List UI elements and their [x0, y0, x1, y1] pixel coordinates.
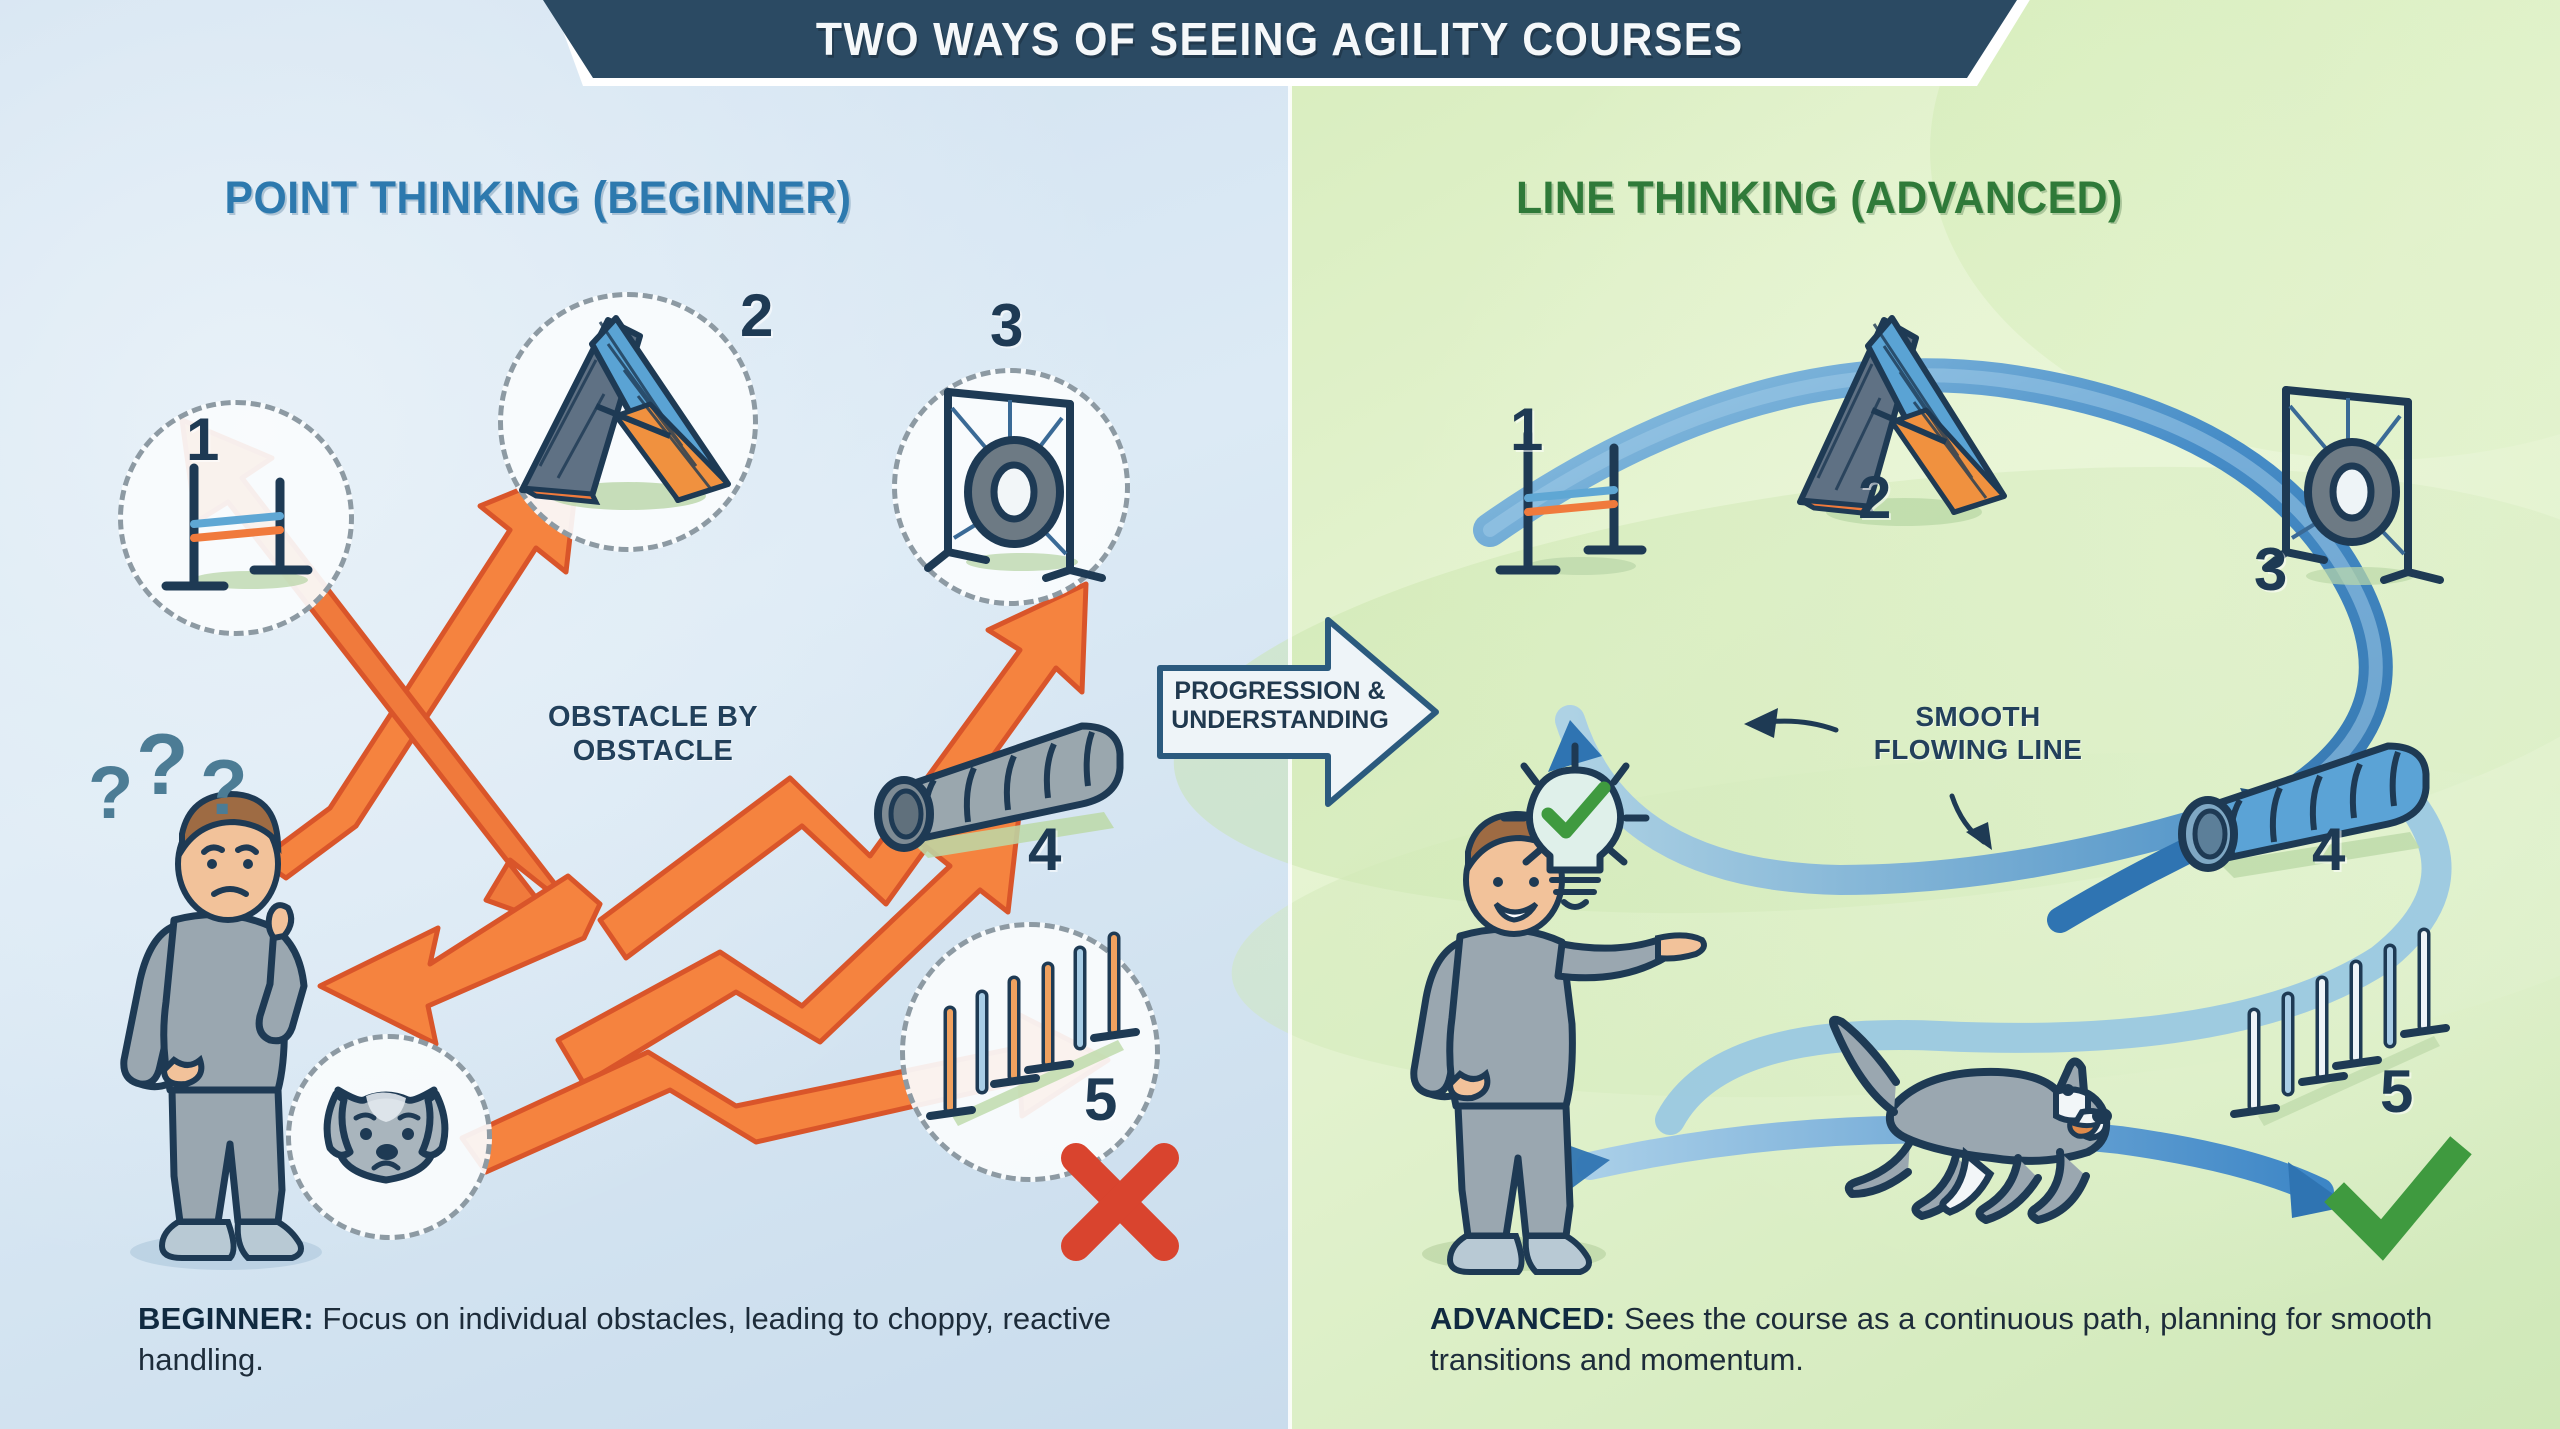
- right-obstacle-3-number: 3: [2254, 540, 2287, 600]
- obstacle-label-line-1: OBSTACLE BY: [508, 700, 798, 734]
- sad-dog-icon: [310, 1056, 462, 1208]
- running-dog-icon: [1806, 996, 2206, 1246]
- beginner-caption-label: BEGINNER:: [138, 1301, 314, 1336]
- advanced-caption: ADVANCED: Sees the course as a continuou…: [1430, 1298, 2490, 1380]
- infographic-canvas: TWO WAYS OF SEEING AGILITY COURSES POINT…: [0, 0, 2560, 1429]
- right-obstacle-5-number: 5: [2380, 1062, 2413, 1122]
- obstacle-by-obstacle-label: OBSTACLE BY OBSTACLE: [508, 700, 798, 768]
- right-obstacle-2-number: 2: [1858, 468, 1891, 528]
- obstacle-4-number: 4: [1028, 820, 1061, 880]
- obstacle-label-line-2: OBSTACLE: [508, 734, 798, 768]
- weave-poles-icon: [2212, 896, 2472, 1156]
- progression-label-line-1: PROGRESSION &: [1165, 677, 1395, 706]
- progression-arrow-label: PROGRESSION & UNDERSTANDING: [1165, 677, 1395, 735]
- obstacle-2-number: 2: [740, 286, 773, 346]
- jump-hurdle-icon: [140, 420, 330, 610]
- right-obstacle-4-number: 4: [2312, 820, 2345, 880]
- question-mark-icon: ?: [200, 743, 248, 831]
- tunnel-icon: [852, 692, 1142, 872]
- question-mark-icon: ?: [136, 717, 189, 813]
- tunnel-icon: [2152, 716, 2452, 896]
- jump-hurdle-icon: [1478, 394, 1668, 594]
- flow-label-pointers: [1700, 680, 2120, 880]
- cross-mark-icon: [1058, 1140, 1182, 1264]
- obstacle-5-number: 5: [1084, 1070, 1117, 1130]
- obstacle-1-number: 1: [186, 410, 219, 470]
- advanced-caption-label: ADVANCED:: [1430, 1301, 1616, 1336]
- a-frame-icon: [500, 300, 750, 540]
- a-frame-icon: [1770, 306, 2030, 556]
- left-panel-heading: POINT THINKING (BEGINNER): [225, 172, 852, 224]
- tire-jump-icon: [910, 356, 1120, 596]
- right-obstacle-1-number: 1: [1510, 400, 1543, 460]
- progression-label-line-2: UNDERSTANDING: [1165, 706, 1395, 735]
- beginner-caption: BEGINNER: Focus on individual obstacles,…: [138, 1298, 1198, 1380]
- question-mark-icon: ?: [88, 751, 133, 834]
- weave-poles-icon: [910, 920, 1160, 1170]
- title-banner: TWO WAYS OF SEEING AGILITY COURSES: [543, 0, 2017, 78]
- right-panel-heading: LINE THINKING (ADVANCED): [1516, 172, 2123, 224]
- obstacle-3-number: 3: [990, 296, 1023, 356]
- page-title: TWO WAYS OF SEEING AGILITY COURSES: [816, 12, 1744, 66]
- lightbulb-idea-icon: [1490, 740, 1660, 910]
- check-mark-icon: [2330, 1140, 2466, 1260]
